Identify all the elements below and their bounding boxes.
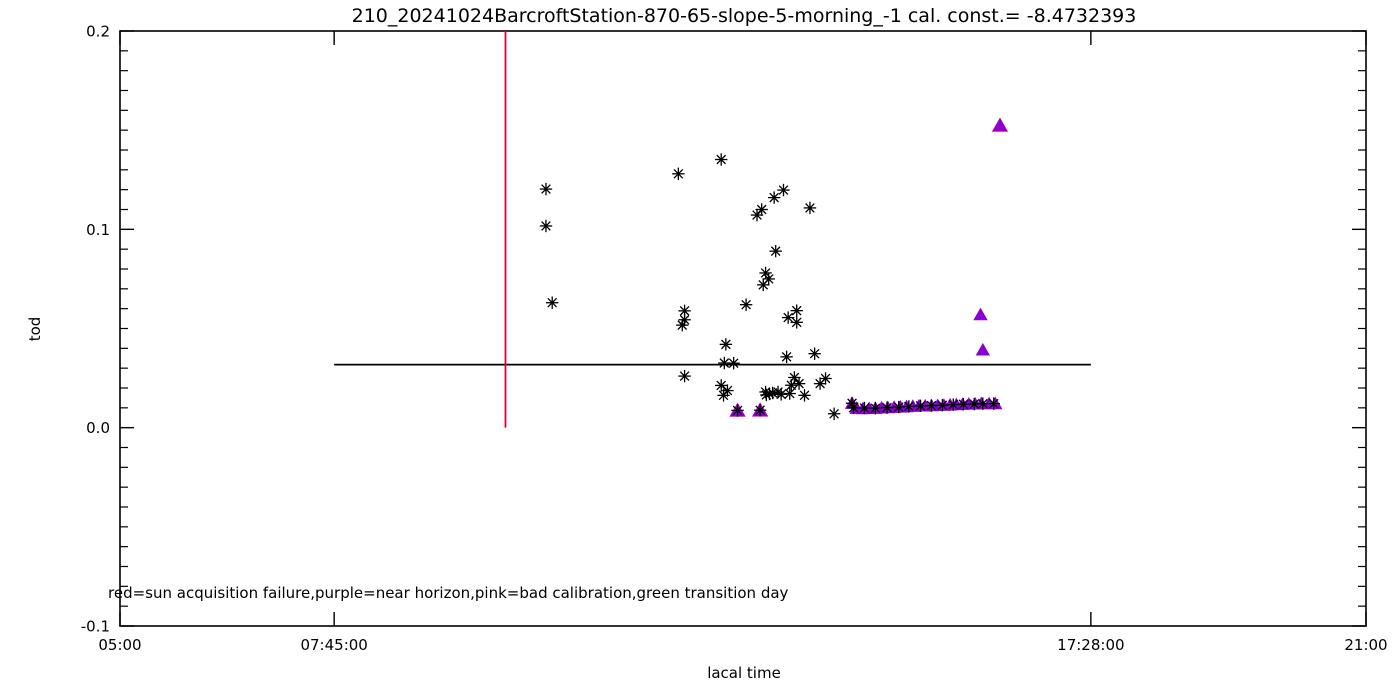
- page-title: 210_20241024BarcroftStation-870-65-slope…: [352, 5, 1137, 27]
- series-tod-points[interactable]: [540, 153, 1000, 420]
- x-axis: 05:0007:45:0017:28:0021:00: [98, 31, 1387, 654]
- x-tick-label: 21:00: [1344, 636, 1387, 654]
- y-axis: 0.20.10.0-0.1: [81, 23, 1366, 636]
- y-tick-label: 0.1: [86, 221, 110, 239]
- y-axis-label: tod: [26, 317, 44, 342]
- series-near-horizon[interactable]: [731, 119, 1006, 415]
- y-tick-label: 0.2: [86, 23, 110, 41]
- x-tick-label: 17:28:00: [1057, 636, 1124, 654]
- legend-note: red=sun acquisition failure,purple=near …: [108, 584, 789, 602]
- series-bad-calibration[interactable]: [730, 118, 1007, 416]
- tod-scatter-plot[interactable]: 210_20241024BarcroftStation-870-65-slope…: [0, 0, 1400, 700]
- y-tick-label: 0.0: [86, 419, 110, 437]
- plot-frame: [120, 31, 1366, 626]
- data-point-triangle-filled[interactable]: [993, 119, 1006, 130]
- y-tick-label: -0.1: [81, 618, 110, 636]
- x-tick-label: 07:45:00: [300, 636, 367, 654]
- x-axis-label: lacal time: [707, 664, 781, 682]
- data-point-triangle-filled[interactable]: [976, 344, 989, 355]
- x-tick-label: 05:00: [98, 636, 141, 654]
- reference-lines: [334, 31, 1091, 428]
- data-point-triangle-filled[interactable]: [974, 308, 987, 319]
- plot-page: 210_20241024BarcroftStation-870-65-slope…: [0, 0, 1400, 700]
